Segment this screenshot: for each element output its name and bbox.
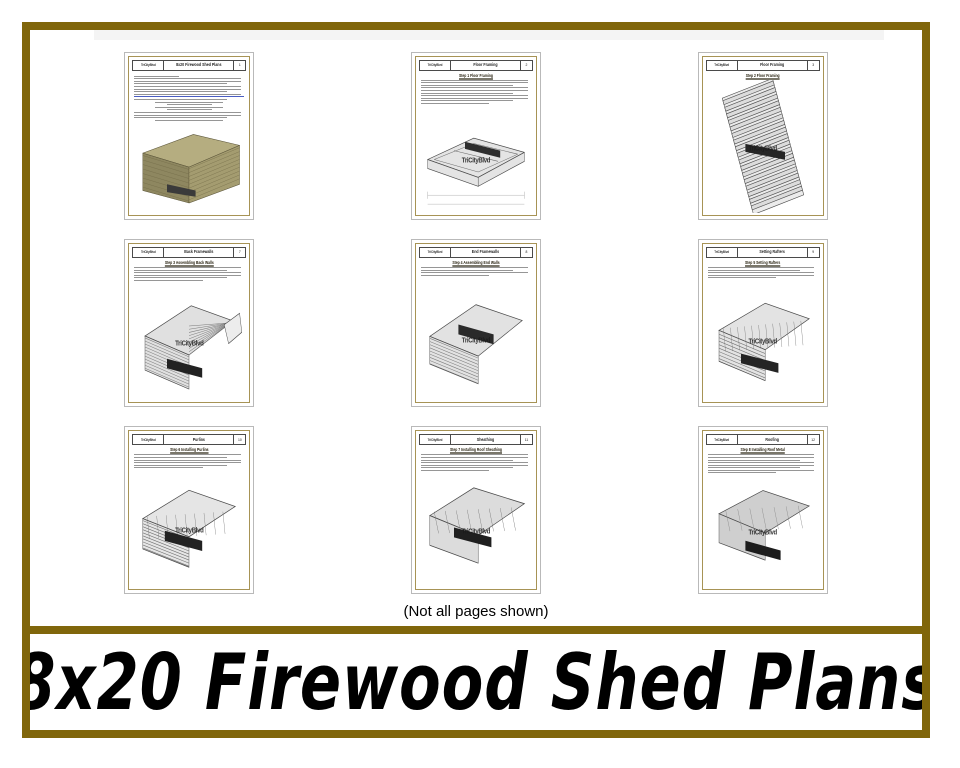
- watermark: TriCityBlvd: [462, 158, 490, 166]
- title-block: TriCityBlvd Floor Framing 2: [419, 60, 533, 71]
- technical-drawing: TriCityBlvd: [134, 470, 244, 587]
- pages-panel: TriCityBlvd 8x20 Firewood Shed Plans 1: [30, 30, 922, 626]
- sheet-heading: Step 5 Setting Rafters: [708, 261, 818, 266]
- title-block: TriCityBlvd End Framewalls 8: [419, 247, 533, 258]
- page-sheet: TriCityBlvd Sheathing 11 Step 7 Installi…: [415, 430, 537, 590]
- title-block: TriCityBlvd Roofing 12: [706, 434, 820, 445]
- title-block-title: Purlins: [164, 435, 234, 444]
- body-copy: [134, 76, 244, 123]
- panel-divider: [30, 626, 922, 634]
- title-block-page-number: 9: [808, 248, 819, 257]
- technical-drawing: TriCityBlvd: [421, 277, 531, 400]
- watermark: TriCityBlvd: [175, 340, 203, 348]
- page-body: Step 5 Setting Rafters TriCityBlvd: [706, 258, 820, 400]
- page-body: Step 3 Assembling Back Walls TriCityBlvd: [132, 258, 246, 400]
- title-block: TriCityBlvd Sheathing 11: [419, 434, 533, 445]
- title-block-title: 8x20 Firewood Shed Plans: [164, 61, 234, 70]
- sheet-heading: Step 1 Floor Framing: [421, 73, 531, 78]
- page-title: 8x20 Firewood Shed Plans: [30, 637, 922, 728]
- page-sheet: TriCityBlvd 8x20 Firewood Shed Plans 1: [128, 56, 250, 216]
- technical-drawing: TriCityBlvd: [708, 80, 818, 213]
- page-thumbnail[interactable]: TriCityBlvd 8x20 Firewood Shed Plans 1: [124, 52, 254, 220]
- title-block-title: Roofing: [738, 435, 808, 444]
- watermark: TriCityBlvd: [748, 530, 776, 538]
- page-body: Step 1 Floor Framing TriCityBlvd: [419, 71, 533, 213]
- title-block: TriCityBlvd Purlins 10: [132, 434, 246, 445]
- technical-drawing: TriCityBlvd: [134, 283, 244, 400]
- title-panel: 8x20 Firewood Shed Plans: [30, 634, 922, 730]
- body-copy: [134, 267, 244, 283]
- watermark: TriCityBlvd: [175, 527, 203, 535]
- title-block-title: Back Framewalls: [164, 248, 234, 257]
- title-block-logo: TriCityBlvd: [420, 61, 451, 70]
- sheet-heading: Step 7 Installing Roof Sheathing: [421, 448, 531, 453]
- technical-drawing: TriCityBlvd: [708, 280, 818, 400]
- title-block: TriCityBlvd Setting Rafters 9: [706, 247, 820, 258]
- poster-frame: TriCityBlvd 8x20 Firewood Shed Plans 1: [22, 22, 930, 738]
- title-block-page-number: 8: [521, 248, 532, 257]
- body-copy: [134, 454, 244, 470]
- title-block-logo: TriCityBlvd: [420, 435, 451, 444]
- watermark: TriCityBlvd: [462, 528, 490, 536]
- title-block-logo: TriCityBlvd: [133, 248, 164, 257]
- body-copy: [421, 80, 531, 106]
- watermark: TriCityBlvd: [748, 145, 776, 153]
- title-block-logo: TriCityBlvd: [707, 248, 738, 257]
- page-sheet: TriCityBlvd Floor Framing 3 Step 2 Floor…: [702, 56, 824, 216]
- technical-drawing: TriCityBlvd: [421, 106, 531, 213]
- body-copy: [421, 454, 531, 472]
- title-block-page-number: 1: [234, 61, 245, 70]
- sheet-heading: Step 6 Installing Purlins: [134, 448, 244, 453]
- not-all-pages-caption: (Not all pages shown): [48, 602, 904, 622]
- title-block-title: Setting Rafters: [738, 248, 808, 257]
- title-block-logo: TriCityBlvd: [707, 61, 738, 70]
- page-body: Step 6 Installing Purlins TriCityBlvd: [132, 445, 246, 587]
- technical-drawing: [134, 122, 244, 212]
- title-block-page-number: 12: [808, 435, 819, 444]
- title-block-page-number: 3: [808, 61, 819, 70]
- page-sheet: TriCityBlvd Floor Framing 2 Step 1 Floor…: [415, 56, 537, 216]
- page-body: Step 8 Installing Roof Metal TriCityBlvd: [706, 445, 820, 587]
- title-block-title: Sheathing: [451, 435, 521, 444]
- body-copy: [708, 267, 818, 280]
- title-block-title: Floor Framing: [451, 61, 521, 70]
- sheet-heading: Step 4 Assembling End Walls: [421, 261, 531, 266]
- page-sheet: TriCityBlvd Back Framewalls 7 Step 3 Ass…: [128, 243, 250, 403]
- watermark: TriCityBlvd: [462, 337, 490, 345]
- page-thumbnail[interactable]: TriCityBlvd End Framewalls 8 Step 4 Asse…: [411, 239, 541, 407]
- page-body: [132, 71, 246, 213]
- page-sheet: TriCityBlvd Roofing 12 Step 8 Installing…: [702, 430, 824, 590]
- page-thumbnail[interactable]: TriCityBlvd Floor Framing 3 Step 2 Floor…: [698, 52, 828, 220]
- page-thumbnail[interactable]: TriCityBlvd Purlins 10 Step 6 Installing…: [124, 426, 254, 594]
- page-body: Step 7 Installing Roof Sheathing TriCity…: [419, 445, 533, 587]
- title-block-page-number: 10: [234, 435, 245, 444]
- title-block-logo: TriCityBlvd: [707, 435, 738, 444]
- title-block-title: Floor Framing: [738, 61, 808, 70]
- page-thumbnail-grid: TriCityBlvd 8x20 Firewood Shed Plans 1: [48, 44, 904, 602]
- title-block: TriCityBlvd Floor Framing 3: [706, 60, 820, 71]
- title-block-logo: TriCityBlvd: [133, 435, 164, 444]
- page-thumbnail[interactable]: TriCityBlvd Setting Rafters 9 Step 5 Set…: [698, 239, 828, 407]
- page-thumbnail[interactable]: TriCityBlvd Sheathing 11 Step 7 Installi…: [411, 426, 541, 594]
- title-block-logo: TriCityBlvd: [420, 248, 451, 257]
- body-copy: [421, 267, 531, 277]
- page-sheet: TriCityBlvd End Framewalls 8 Step 4 Asse…: [415, 243, 537, 403]
- body-copy: [708, 454, 818, 475]
- watermark: TriCityBlvd: [748, 339, 776, 347]
- sheet-heading: Step 3 Assembling Back Walls: [134, 261, 244, 266]
- page-thumbnail[interactable]: TriCityBlvd Back Framewalls 7 Step 3 Ass…: [124, 239, 254, 407]
- page-thumbnail[interactable]: TriCityBlvd Roofing 12 Step 8 Installing…: [698, 426, 828, 594]
- page-body: Step 2 Floor Framing TriCityBlvd: [706, 71, 820, 213]
- title-block-logo: TriCityBlvd: [133, 61, 164, 70]
- title-block-page-number: 7: [234, 248, 245, 257]
- technical-drawing: TriCityBlvd: [708, 475, 818, 587]
- title-block-page-number: 2: [521, 61, 532, 70]
- page-sheet: TriCityBlvd Purlins 10 Step 6 Installing…: [128, 430, 250, 590]
- title-block-page-number: 11: [521, 435, 532, 444]
- sheet-heading: Step 8 Installing Roof Metal: [708, 448, 818, 453]
- page-thumbnail[interactable]: TriCityBlvd Floor Framing 2 Step 1 Floor…: [411, 52, 541, 220]
- technical-drawing: TriCityBlvd: [421, 472, 531, 587]
- title-block: TriCityBlvd Back Framewalls 7: [132, 247, 246, 258]
- title-block-title: End Framewalls: [451, 248, 521, 257]
- title-block: TriCityBlvd 8x20 Firewood Shed Plans 1: [132, 60, 246, 71]
- page-body: Step 4 Assembling End Walls TriCityBlvd: [419, 258, 533, 400]
- sheet-heading: Step 2 Floor Framing: [708, 73, 818, 78]
- page-sheet: TriCityBlvd Setting Rafters 9 Step 5 Set…: [702, 243, 824, 403]
